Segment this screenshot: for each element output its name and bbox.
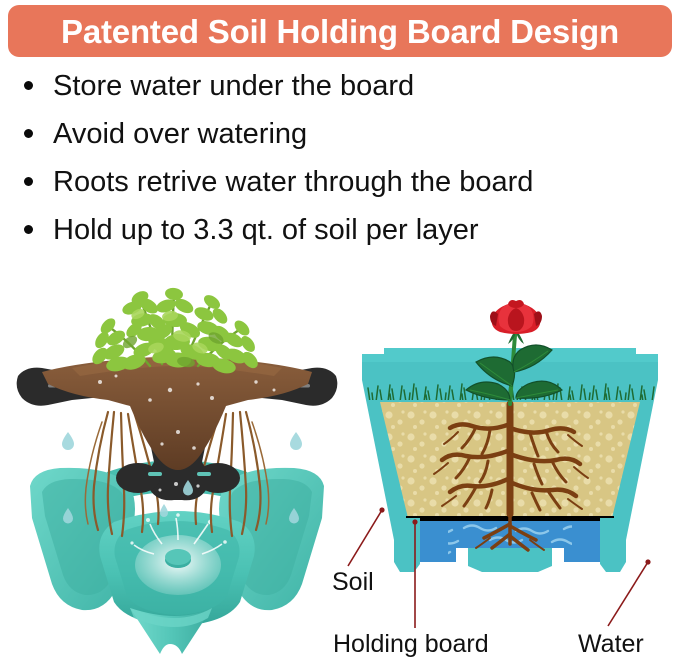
bullet-dot-icon (24, 177, 33, 186)
callout-label-holding-board: Holding board (333, 632, 489, 657)
product-photo (12, 272, 342, 662)
cross-section-illustration (340, 300, 679, 590)
list-item: Avoid over watering (24, 120, 664, 168)
bullet-dot-icon (24, 225, 33, 234)
header-banner: Patented Soil Holding Board Design (8, 5, 672, 57)
callout-label-water: Water (578, 632, 644, 657)
rose-bloom (490, 300, 542, 334)
feature-list: Store water under the board Avoid over w… (24, 72, 664, 264)
plant-foliage (89, 287, 261, 376)
list-item: Store water under the board (24, 72, 664, 120)
feature-text: Roots retrive water through the board (53, 168, 533, 197)
cross-section-diagram (340, 300, 679, 590)
callout-label-soil: Soil (332, 570, 374, 595)
feature-text: Hold up to 3.3 qt. of soil per layer (53, 216, 479, 245)
feature-text: Store water under the board (53, 72, 414, 101)
bullet-dot-icon (24, 81, 33, 90)
list-item: Roots retrive water through the board (24, 168, 664, 216)
feature-text: Avoid over watering (53, 120, 307, 149)
product-photo-illustration (12, 272, 342, 662)
list-item: Hold up to 3.3 qt. of soil per layer (24, 216, 664, 264)
bullet-dot-icon (24, 129, 33, 138)
page-title: Patented Soil Holding Board Design (61, 15, 619, 48)
